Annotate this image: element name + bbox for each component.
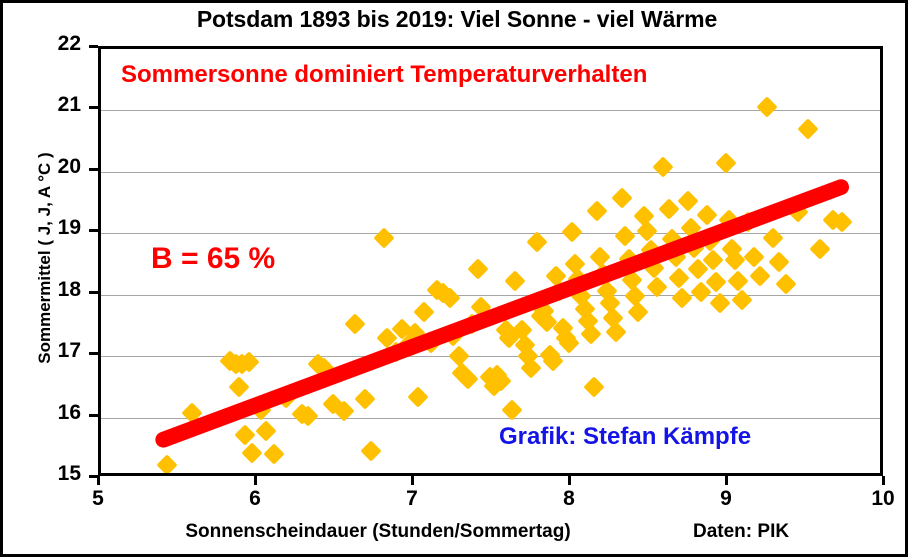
scatter-point xyxy=(345,314,366,335)
scatter-point xyxy=(627,301,648,322)
plot-area: Sommersonne dominiert Temperaturverhalte… xyxy=(98,46,883,476)
scatter-point xyxy=(750,266,771,287)
scatter-point xyxy=(229,376,250,397)
scatter-point xyxy=(671,288,692,309)
gridline xyxy=(101,418,880,419)
x-tick-label: 5 xyxy=(68,487,128,511)
scatter-point xyxy=(652,156,673,177)
page-title: Potsdam 1893 bis 2019: Viel Sonne - viel… xyxy=(3,6,908,33)
scatter-point xyxy=(156,455,177,476)
scatter-point xyxy=(527,231,548,252)
y-tick-mark xyxy=(89,229,98,232)
scatter-point xyxy=(728,271,749,292)
gridline xyxy=(101,356,880,357)
y-tick-mark xyxy=(89,45,98,48)
scatter-point xyxy=(241,443,262,464)
scatter-point xyxy=(744,246,765,267)
x-tick-mark xyxy=(254,476,257,485)
scatter-point xyxy=(593,263,614,284)
y-axis-title: Sommermittel ( J, J, A °C ) xyxy=(35,48,55,468)
y-tick-mark xyxy=(89,414,98,417)
x-tick-mark xyxy=(725,476,728,485)
y-tick-mark xyxy=(89,291,98,294)
scatter-point xyxy=(762,228,783,249)
scatter-point xyxy=(467,258,488,279)
scatter-point xyxy=(696,204,717,225)
r-squared-annotation: B = 65 % xyxy=(151,242,275,276)
scatter-point xyxy=(659,198,680,219)
scatter-point xyxy=(414,301,435,322)
scatter-point xyxy=(255,420,276,441)
x-tick-label: 9 xyxy=(696,487,756,511)
scatter-point xyxy=(408,386,429,407)
scatter-point xyxy=(615,225,636,246)
y-tick-mark xyxy=(89,106,98,109)
scatter-point xyxy=(276,387,297,408)
scatter-point xyxy=(731,289,752,310)
scatter-point xyxy=(354,389,375,410)
scatter-point xyxy=(809,239,830,260)
scatter-point xyxy=(235,424,256,445)
scatter-point xyxy=(643,257,664,278)
scatter-point xyxy=(561,221,582,242)
x-tick-mark xyxy=(97,476,100,485)
x-tick-label: 7 xyxy=(382,487,442,511)
scatter-point xyxy=(737,212,758,233)
x-tick-label: 6 xyxy=(225,487,285,511)
y-tick-mark xyxy=(89,352,98,355)
scatter-point xyxy=(640,240,661,261)
scatter-point xyxy=(662,229,683,250)
gridline xyxy=(101,295,880,296)
headline-annotation: Sommersonne dominiert Temperaturverhalte… xyxy=(121,61,647,89)
scatter-point xyxy=(665,246,686,267)
y-tick-mark xyxy=(89,168,98,171)
scatter-point xyxy=(590,246,611,267)
x-tick-mark xyxy=(411,476,414,485)
scatter-point xyxy=(756,96,777,117)
gridline xyxy=(101,172,880,173)
scatter-point xyxy=(583,376,604,397)
x-tick-label: 8 xyxy=(539,487,599,511)
scatter-point xyxy=(709,293,730,314)
scatter-point xyxy=(668,267,689,288)
scatter-point xyxy=(442,326,463,347)
gridline xyxy=(101,233,880,234)
scatter-point xyxy=(797,118,818,139)
scatter-point xyxy=(263,444,284,465)
chart-image: Potsdam 1893 bis 2019: Viel Sonne - viel… xyxy=(0,0,908,557)
data-source-label: Daten: PIK xyxy=(693,521,789,543)
scatter-point xyxy=(681,218,702,239)
scatter-point xyxy=(769,251,790,272)
credit-annotation: Grafik: Stefan Kämpfe xyxy=(499,423,751,451)
scatter-point xyxy=(715,153,736,174)
scatter-point xyxy=(181,402,202,423)
scatter-point xyxy=(587,201,608,222)
scatter-point xyxy=(678,191,699,212)
scatter-point xyxy=(618,248,639,269)
scatter-point xyxy=(718,209,739,230)
scatter-point xyxy=(787,202,808,223)
scatter-point xyxy=(373,228,394,249)
x-axis-title: Sonnenscheindauer (Stunden/Sommertag) xyxy=(98,521,658,543)
scatter-point xyxy=(360,441,381,462)
x-tick-mark xyxy=(568,476,571,485)
x-tick-label: 10 xyxy=(853,487,908,511)
scatter-point xyxy=(505,271,526,292)
scatter-point xyxy=(612,187,633,208)
scatter-point xyxy=(775,273,796,294)
x-tick-mark xyxy=(882,476,885,485)
